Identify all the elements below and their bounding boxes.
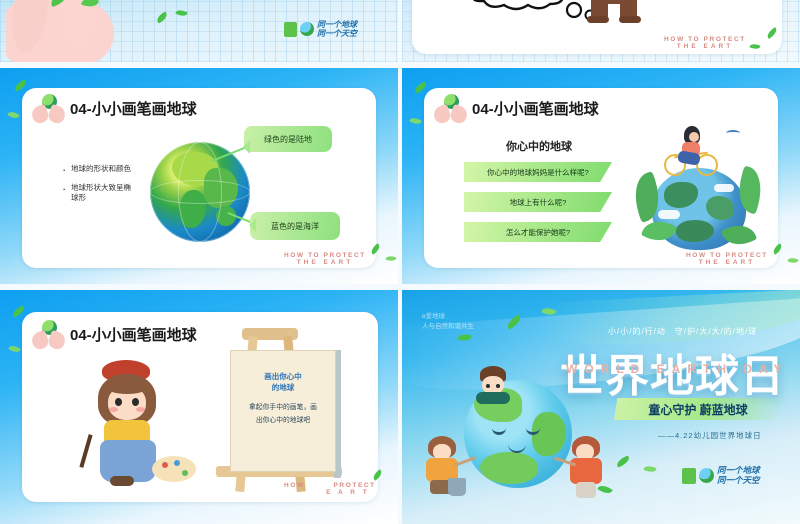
earth-mascot-icon — [300, 22, 314, 36]
globe-land — [706, 196, 734, 220]
cheek-right — [136, 407, 145, 412]
palette-paint — [174, 460, 180, 466]
slide-title: 04-小小画笔画地球 — [472, 98, 599, 119]
cheek-left — [109, 407, 118, 412]
slide-footer-en: HOW PROTECT E A R T — [284, 482, 376, 497]
slide-draw-earth[interactable]: 04-小小画笔画地球 — [0, 290, 398, 524]
rider-face — [689, 132, 699, 142]
thumbnail-grid: 同一个地球 同一个天空 — [0, 0, 800, 524]
hands-holding-earth-icon — [32, 94, 66, 124]
slide-hero[interactable]: в爱地球 人与自然和谐共生 小/小/的/行/动 守/护/大/大/的/地/球 世界… — [402, 290, 800, 524]
earth-continent — [480, 452, 538, 484]
callout-ocean-label: 蓝色的是海洋 — [271, 221, 319, 232]
section-heading: 你心中的地球 — [464, 138, 614, 154]
question-banner-2: 地球上有什么呢? — [464, 192, 612, 212]
question-banner-3: 怎么才能保护她呢? — [464, 222, 612, 242]
slide-top-left[interactable]: 同一个地球 同一个天空 — [0, 0, 398, 62]
illustration-bike-on-globe — [634, 124, 764, 254]
fringe — [106, 380, 148, 394]
cloud-shape — [658, 210, 680, 219]
brand-logo: 同一个地球 同一个天空 — [682, 466, 760, 486]
bucket-icon — [448, 478, 466, 496]
globe-illustration — [150, 142, 250, 242]
hands-holding-earth-icon — [434, 94, 468, 124]
slide-earth-shape[interactable]: 04-小小画笔画地球 地球的形状和颜色 地球形状大致呈椭球形 绿色的是陆地 — [0, 68, 398, 284]
illustration-girl-painter — [78, 360, 198, 488]
slide-thumbnail-grid-page: 同一个地球 同一个天空 — [0, 0, 800, 524]
logo-text: 同一个地球 同一个天空 — [317, 20, 357, 38]
hero-subtitle: 童心守护 蔚蓝地球 — [614, 398, 782, 420]
footer-word-protect: PROTECT — [334, 482, 376, 489]
slide-your-earth[interactable]: 04-小小画笔画地球 你心中的地球 你心中的地球妈妈是什么样呢? 地球上有什么呢… — [402, 68, 800, 284]
hands-holding-earth-icon — [32, 320, 66, 350]
slide-top-right[interactable]: HOW TO PROTECT THE EART — [402, 0, 800, 62]
slide-title: 04-小小画笔画地球 — [70, 324, 197, 345]
callout-land-label: 绿色的是陆地 — [264, 134, 312, 145]
question-banner-3-label: 怎么才能保护她呢? — [506, 227, 570, 238]
recycle-bin-icon — [284, 22, 297, 37]
shoe — [110, 476, 134, 486]
logo-text: 同一个地球 同一个天空 — [717, 466, 760, 486]
bullet-list: 地球的形状和颜色 地球形状大致呈椭球形 — [62, 164, 134, 212]
question-banner-1-label: 你心中的地球妈妈是什么样呢? — [487, 167, 589, 178]
footer-word-earth: E A R T — [284, 489, 376, 496]
slide-title: 04-小小画笔画地球 — [70, 98, 197, 119]
hero-faint-text: в爱地球 人与自然和谐共生 — [422, 312, 474, 332]
illustration-earth-with-kids — [422, 366, 612, 506]
slide-footer-en: HOW TO PROTECT THE EART — [686, 252, 768, 267]
hero-subtitle-label: 童心守护 蔚蓝地球 — [648, 401, 747, 418]
slide-footer-en: HOW TO PROTECT THE EART — [664, 36, 746, 51]
paintbrush-icon — [79, 434, 92, 468]
bird-icon — [726, 130, 740, 136]
list-item: 地球的形状和颜色 — [62, 164, 134, 174]
callout-ocean-tail — [242, 218, 256, 232]
question-banner-1: 你心中的地球妈妈是什么样呢? — [464, 162, 612, 182]
palette-paint — [162, 462, 168, 468]
kid-top — [476, 366, 512, 400]
footer-word-how: HOW — [284, 482, 305, 489]
brand-logo: 同一个地球 同一个天空 — [284, 20, 357, 38]
hero-kicker: 小/小/的/行/动 守/护/大/大/的/地/球 — [608, 326, 757, 337]
eye-left — [115, 398, 122, 406]
list-item: 地球形状大致呈椭球形 — [62, 183, 134, 203]
easel-heading: 画出你心中 的地球 — [230, 372, 336, 394]
eye-right — [132, 398, 139, 406]
question-banner-2-label: 地球上有什么呢? — [510, 197, 567, 208]
illustration-easel: 画出你心中 的地球 拿起你手中的画笔，画 出你心中的地球吧 — [212, 328, 348, 500]
easel-body-text: 拿起你手中的画笔，画 出你心中的地球吧 — [230, 402, 336, 427]
slide-footer-en: HOW TO PROTECT THE EART — [284, 252, 366, 267]
hero-note: ——4.22幼儿园世界地球日 — [658, 430, 762, 441]
palette-paint — [182, 470, 188, 476]
callout-ocean: 蓝色的是海洋 — [250, 212, 340, 240]
recycle-bin-icon — [682, 468, 696, 484]
earth-mascot-icon — [699, 468, 714, 483]
cloud-shape — [714, 184, 734, 192]
callout-land-tail — [236, 140, 250, 154]
callout-land: 绿色的是陆地 — [244, 126, 332, 152]
parallel-line — [150, 180, 250, 204]
illustration-character-legs — [591, 0, 637, 22]
